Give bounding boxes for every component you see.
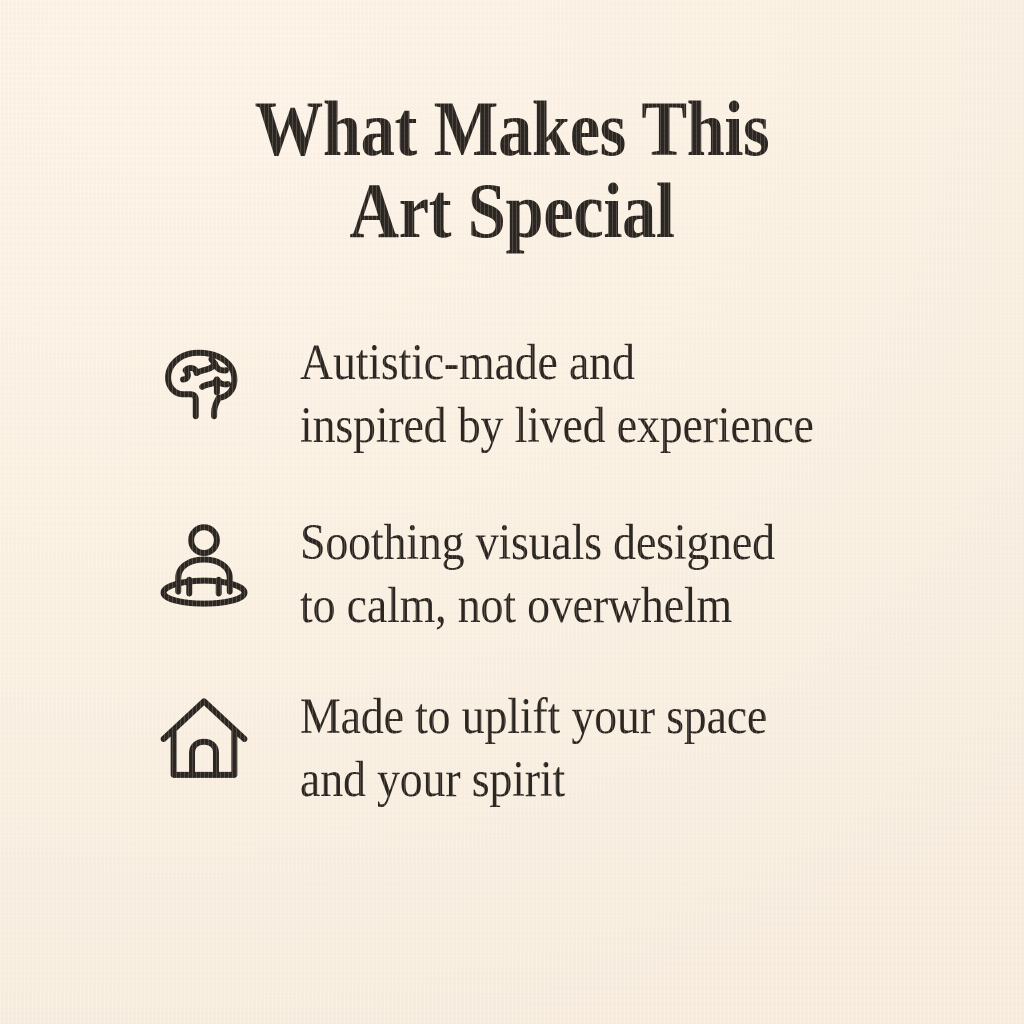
feature-item-uplift-space: Made to uplift your space and your spiri… (158, 684, 968, 812)
feature-item-soothing-visuals: Soothing visuals designed to calm, not o… (158, 510, 968, 638)
feature-text-line-1: Soothing visuals designed (300, 512, 901, 575)
page-title-line-2: Art Special (61, 170, 962, 252)
feature-text-line-1: Made to uplift your space (300, 686, 901, 749)
page-title-line-1: What Makes This (61, 88, 962, 170)
feature-text-autistic-made: Autistic-made and inspired by lived expe… (254, 330, 968, 458)
feature-text-line-2: and your spirit (300, 749, 901, 812)
feature-item-autistic-made: Autistic-made and inspired by lived expe… (158, 330, 968, 458)
feature-text-soothing-visuals: Soothing visuals designed to calm, not o… (254, 510, 968, 638)
feature-text-line-1: Autistic-made and (300, 332, 901, 395)
brain-icon (158, 330, 254, 434)
feature-text-line-2: to calm, not overwhelm (300, 575, 901, 638)
page-title: What Makes This Art Special (0, 88, 1024, 252)
promo-card: What Makes This Art Special (0, 0, 1024, 1024)
feature-text-uplift-space: Made to uplift your space and your spiri… (254, 684, 968, 812)
meditation-person-icon (158, 510, 254, 614)
feature-text-line-2: inspired by lived experience (300, 395, 901, 458)
feature-list: Autistic-made and inspired by lived expe… (158, 330, 968, 812)
house-icon (158, 684, 254, 788)
